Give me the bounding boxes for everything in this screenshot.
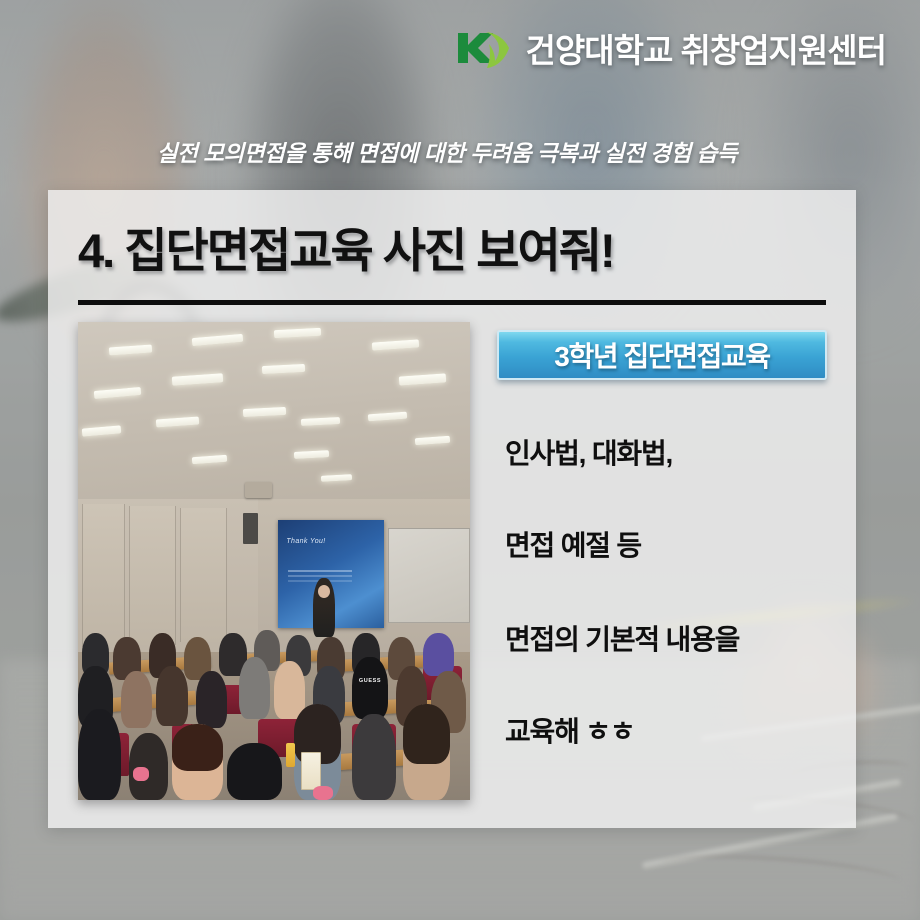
page-title: 4. 집단면접교육 사진 보여줘! <box>78 212 614 281</box>
classroom-photo: Thank You! GUESS <box>78 322 470 800</box>
status-badge: 3학년 집단면접교육 <box>497 330 827 380</box>
student-guess-shirt: GUESS <box>352 657 387 719</box>
pink-item <box>313 786 333 800</box>
student <box>156 666 187 726</box>
projector-icon <box>245 482 272 498</box>
presenter-face <box>318 585 330 598</box>
student <box>196 671 227 728</box>
student-hair <box>403 704 450 763</box>
pink-item <box>133 767 149 781</box>
body-line-4: 교육해 ㅎㅎ <box>505 710 634 750</box>
slide-title: Thank You! <box>286 538 375 545</box>
student-foreground <box>352 714 395 800</box>
body-line-1: 인사법, 대화법, <box>505 432 672 472</box>
student-foreground <box>403 704 450 800</box>
student-foreground <box>172 724 223 800</box>
badge-label: 3학년 집단면접교육 <box>554 335 769 375</box>
body-line-2: 면접 예절 등 <box>505 524 641 564</box>
whiteboard <box>388 528 470 624</box>
student <box>423 633 454 676</box>
snack-package <box>301 752 321 790</box>
body-line-3: 면접의 기본적 내용을 <box>505 618 739 658</box>
student-foreground <box>78 709 121 800</box>
window-blind <box>82 504 125 647</box>
student-foreground <box>129 733 168 800</box>
slide-body-lines <box>288 570 351 572</box>
student-foreground <box>227 743 282 800</box>
speaker-icon <box>243 513 259 544</box>
window-blind <box>180 508 227 642</box>
student <box>239 657 270 719</box>
drink-bottle <box>286 743 295 767</box>
tagline: 실전 모의면접을 통해 면접에 대한 두려움 극복과 실전 경험 습득 <box>0 136 920 168</box>
ky-leaf-logo-icon <box>456 26 512 70</box>
window-blind <box>129 506 176 645</box>
student <box>121 671 152 728</box>
guess-logo-text: GUESS <box>352 678 387 684</box>
header: 건양대학교 취창업지원센터 <box>0 0 920 96</box>
title-divider <box>78 300 826 305</box>
presenter <box>313 578 335 638</box>
brand-title: 건양대학교 취창업지원센터 <box>526 24 887 72</box>
student-hair <box>172 724 223 771</box>
